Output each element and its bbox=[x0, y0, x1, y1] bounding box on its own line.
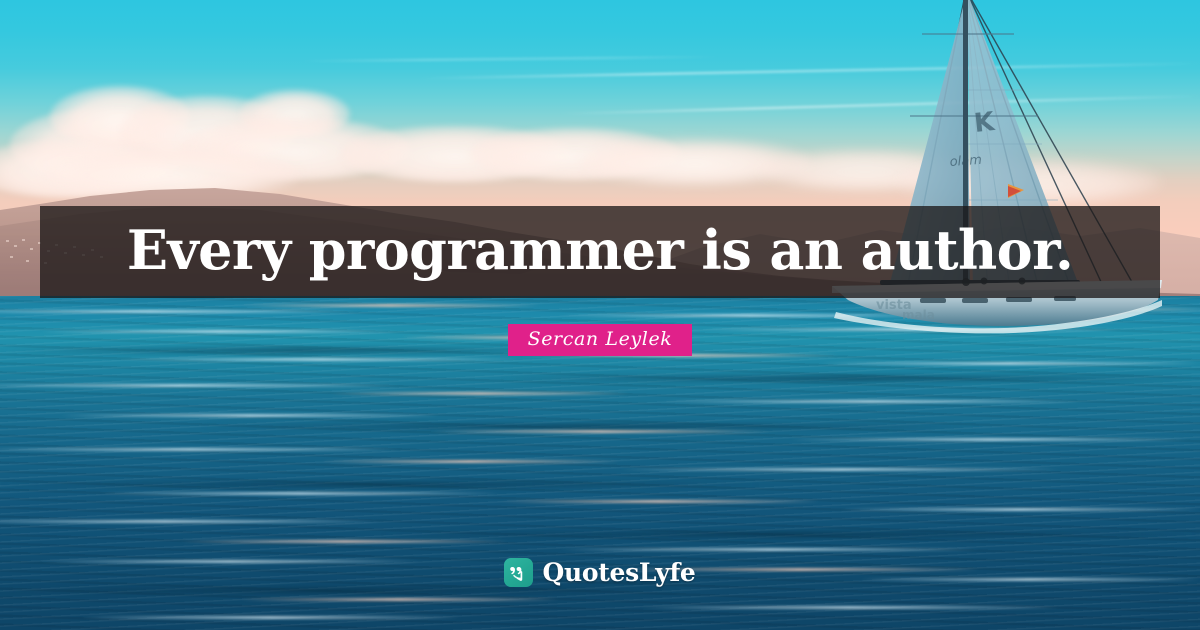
brand-logo[interactable]: QuotesLyfe bbox=[0, 558, 1200, 587]
quote-text: Every programmer is an author. bbox=[40, 223, 1160, 281]
author-badge-container: Sercan Leylek bbox=[0, 324, 1200, 356]
quote-mark-icon bbox=[504, 558, 533, 587]
quote-card: K olam bbox=[0, 0, 1200, 630]
author-name-badge: Sercan Leylek bbox=[508, 324, 693, 356]
brand-wordmark: QuotesLyfe bbox=[542, 560, 695, 585]
svg-text:mala: mala bbox=[902, 308, 935, 322]
background-photo: K olam bbox=[0, 0, 1200, 630]
svg-text:K: K bbox=[973, 107, 997, 139]
quote-overlay-bar: Every programmer is an author. bbox=[40, 206, 1160, 298]
